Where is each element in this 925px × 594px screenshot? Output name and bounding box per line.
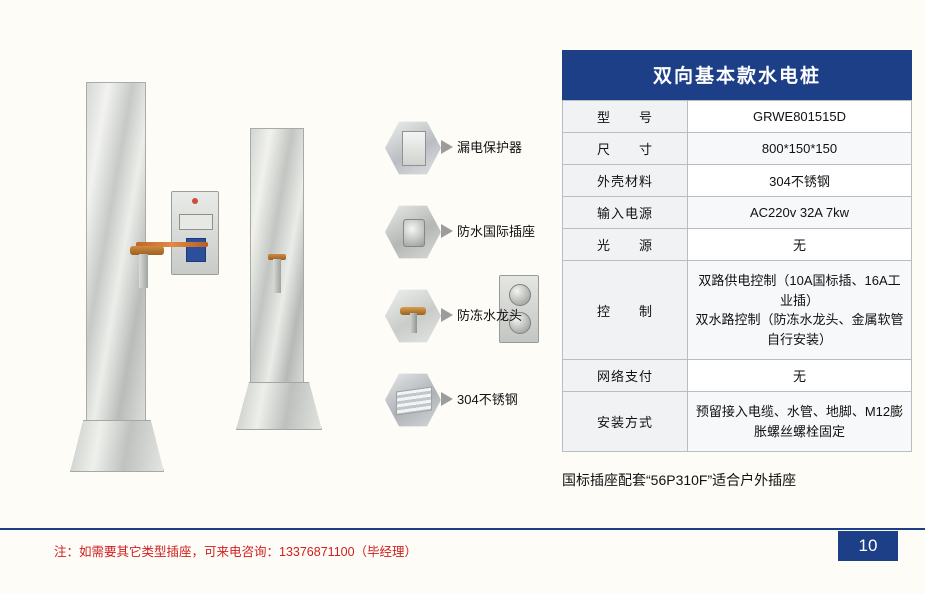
indicator-led-icon: [192, 198, 198, 204]
footer-note: 注：如需要其它类型插座，可来电咨询：13376871100（毕经理）: [54, 541, 417, 560]
spec-key: 安装方式: [563, 392, 688, 452]
spec-value: AC220v 32A 7kw: [688, 197, 912, 229]
table-row: 输入电源 AC220v 32A 7kw: [563, 197, 912, 229]
spec-value: 无: [688, 229, 912, 261]
product-photo-area: 漏电保护器 防水国际插座 防冻水龙头 304不锈钢: [10, 20, 550, 520]
callout-antifreeze-faucet: 防冻水龙头: [385, 288, 590, 342]
table-row: 外壳材料 304不锈钢: [563, 165, 912, 197]
callout-waterproof-socket: 防水国际插座: [385, 204, 590, 258]
pillar-large-base: [70, 420, 164, 472]
table-row: 型 号 GRWE801515D: [563, 101, 912, 133]
faucet-small-icon: [268, 254, 286, 296]
table-row: 网络支付 无: [563, 360, 912, 392]
callout-leakage-protector: 漏电保护器: [385, 120, 590, 174]
callout-arrow-icon: [441, 308, 453, 322]
stainless-steel-icon: [385, 372, 441, 428]
page-number-badge: 10: [838, 531, 898, 561]
spec-key: 输入电源: [563, 197, 688, 229]
spec-key: 外壳材料: [563, 165, 688, 197]
faucet-large-icon: [130, 246, 164, 290]
waterproof-socket-icon: [385, 204, 441, 260]
meter-display: [179, 214, 213, 230]
callout-arrow-icon: [441, 140, 453, 154]
antifreeze-faucet-icon: [385, 288, 441, 344]
callout-stainless-steel: 304不锈钢: [385, 372, 590, 426]
spec-value: 预留接入电缆、水管、地脚、M12膨胀螺丝螺栓固定: [688, 392, 912, 452]
spec-value: 304不锈钢: [688, 165, 912, 197]
spec-value: 800*150*150: [688, 133, 912, 165]
spec-key: 控 制: [563, 261, 688, 360]
callout-label: 防水国际插座: [457, 221, 535, 240]
callout-label: 漏电保护器: [457, 137, 522, 156]
table-row: 控 制 双路供电控制（10A国标插、16A工业插） 双水路控制（防冻水龙头、金属…: [563, 261, 912, 360]
slide-page: 漏电保护器 防水国际插座 防冻水龙头 304不锈钢 双向基本款水电桩 型 号 G…: [0, 0, 925, 594]
table-row: 尺 寸 800*150*150: [563, 133, 912, 165]
spec-table-title: 双向基本款水电桩: [562, 50, 912, 100]
spec-key: 网络支付: [563, 360, 688, 392]
spec-key: 光 源: [563, 229, 688, 261]
spec-key: 尺 寸: [563, 133, 688, 165]
footer-divider: [0, 528, 925, 530]
callout-arrow-icon: [441, 224, 453, 238]
leakage-protector-icon: [385, 120, 441, 176]
spec-value: GRWE801515D: [688, 101, 912, 133]
socket-note: 国标插座配套“56P310F”适合户外插座: [562, 470, 922, 490]
callout-label: 304不锈钢: [457, 389, 518, 408]
spec-value: 双路供电控制（10A国标插、16A工业插） 双水路控制（防冻水龙头、金属软管自行…: [688, 261, 912, 360]
leakage-protector-box: [171, 191, 219, 275]
callout-label: 防冻水龙头: [457, 305, 522, 324]
table-row: 光 源 无: [563, 229, 912, 261]
spec-table-wrap: 双向基本款水电桩 型 号 GRWE801515D 尺 寸 800*150*150…: [562, 50, 912, 452]
callout-arrow-icon: [441, 392, 453, 406]
spec-table: 型 号 GRWE801515D 尺 寸 800*150*150 外壳材料 304…: [562, 100, 912, 452]
spec-key: 型 号: [563, 101, 688, 133]
table-row: 安装方式 预留接入电缆、水管、地脚、M12膨胀螺丝螺栓固定: [563, 392, 912, 452]
spec-value: 无: [688, 360, 912, 392]
pillar-small-base: [236, 382, 322, 430]
